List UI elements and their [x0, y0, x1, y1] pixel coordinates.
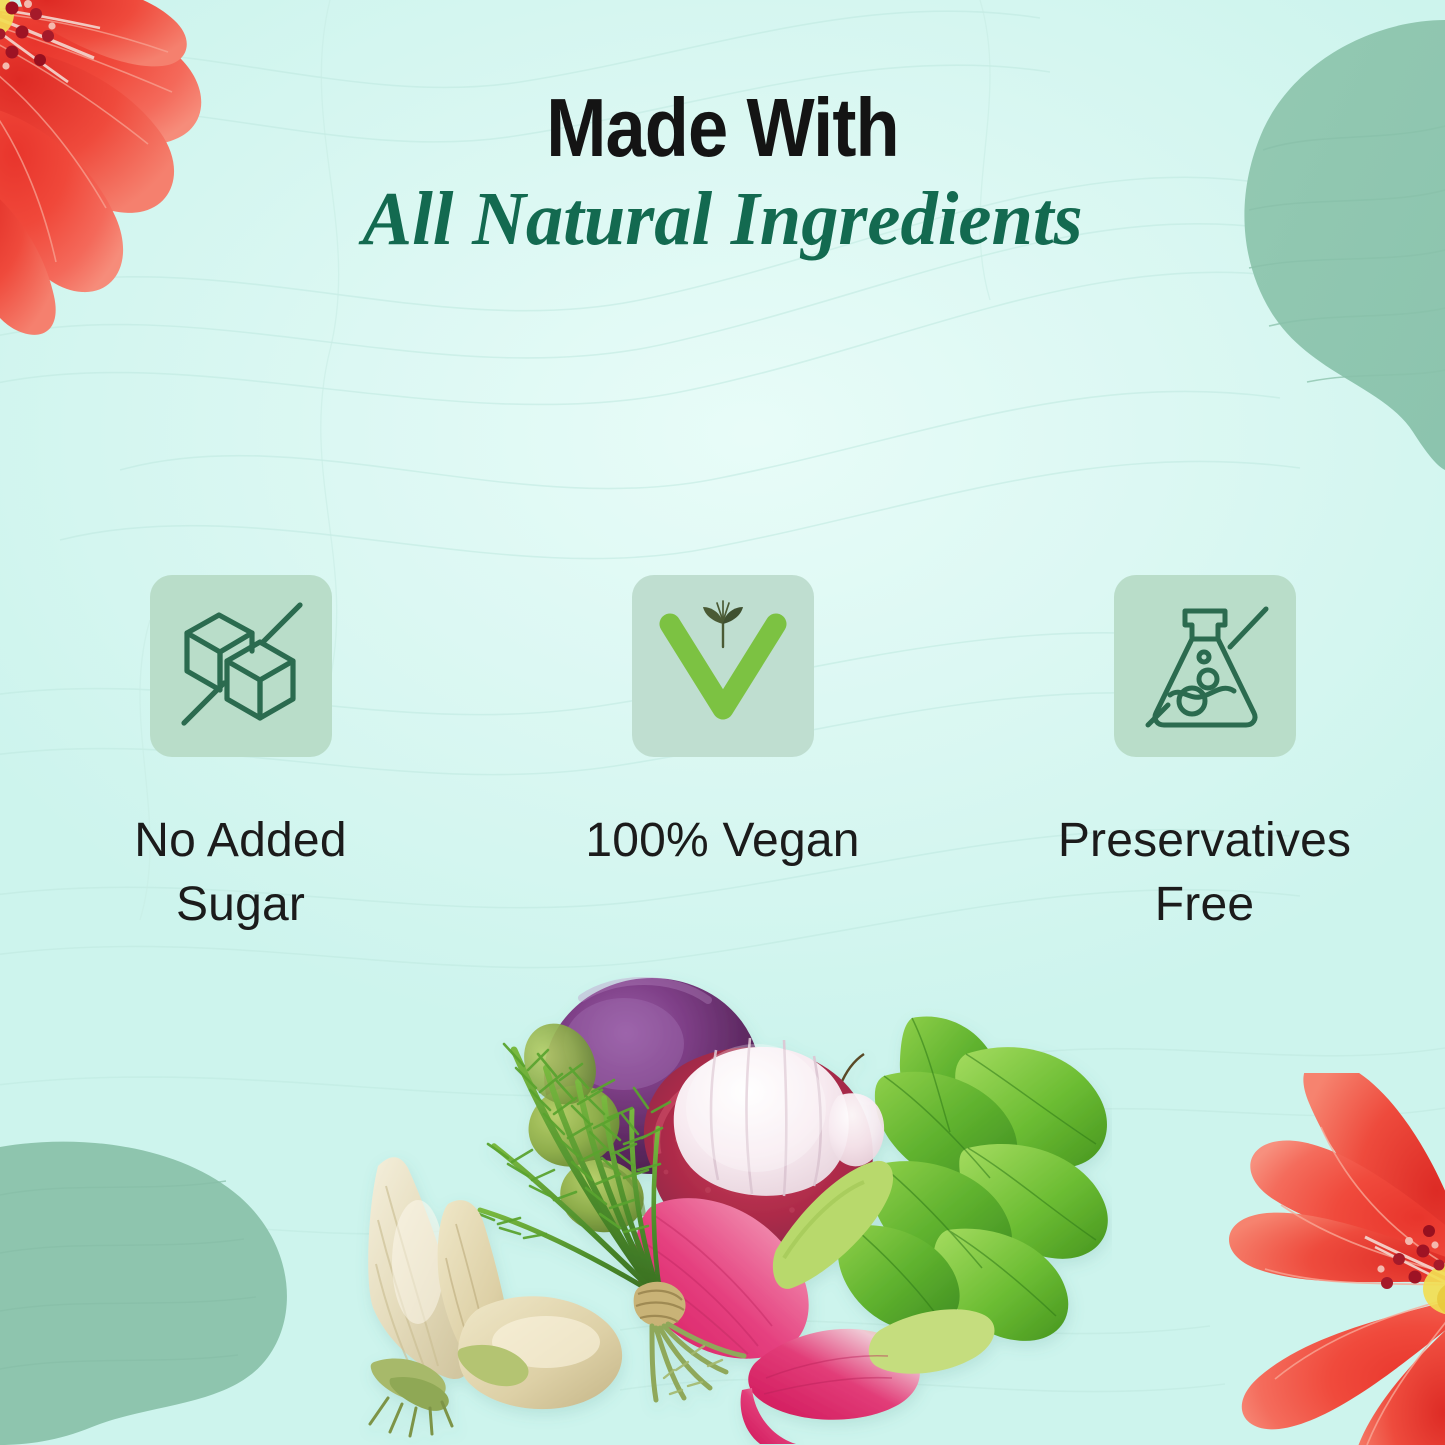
feature-label-line1: 100% Vegan [513, 809, 933, 873]
feature-icon-tile [1114, 575, 1296, 757]
feature-icon-tile [632, 575, 814, 757]
feature-label: Preservatives Free [1040, 809, 1370, 937]
hibiscus-bottom-right [1217, 1073, 1445, 1445]
feature-icon-tile [150, 575, 332, 757]
feature-no-added-sugar: No Added Sugar [0, 575, 481, 937]
feature-row: No Added Sugar [0, 575, 1445, 937]
blob-bottom-left [0, 1115, 330, 1445]
feature-label-line1: No Added [91, 809, 391, 873]
feature-vegan: 100% Vegan [481, 575, 964, 937]
feature-label: 100% Vegan [513, 809, 933, 873]
feature-label-line2: Sugar [91, 873, 391, 937]
no-sugar-cubes-icon [166, 591, 316, 741]
feature-preservatives-free: Preservatives Free [964, 575, 1445, 937]
page-title: Made With [94, 88, 1351, 168]
feature-label-line1: Preservatives [1040, 809, 1370, 873]
produce-photo [352, 958, 1112, 1445]
header-block: Made With All Natural Ingredients [0, 88, 1445, 259]
page-subtitle: All Natural Ingredients [14, 180, 1430, 260]
vegan-v-sprout-icon [648, 591, 798, 741]
feature-label: No Added Sugar [91, 809, 391, 937]
feature-label-line2: Free [1040, 873, 1370, 937]
infographic-stage: Made With All Natural Ingredients [0, 0, 1445, 1445]
natural-ingredients-arrangement [352, 958, 1112, 1445]
no-preservatives-flask-icon [1130, 591, 1280, 741]
